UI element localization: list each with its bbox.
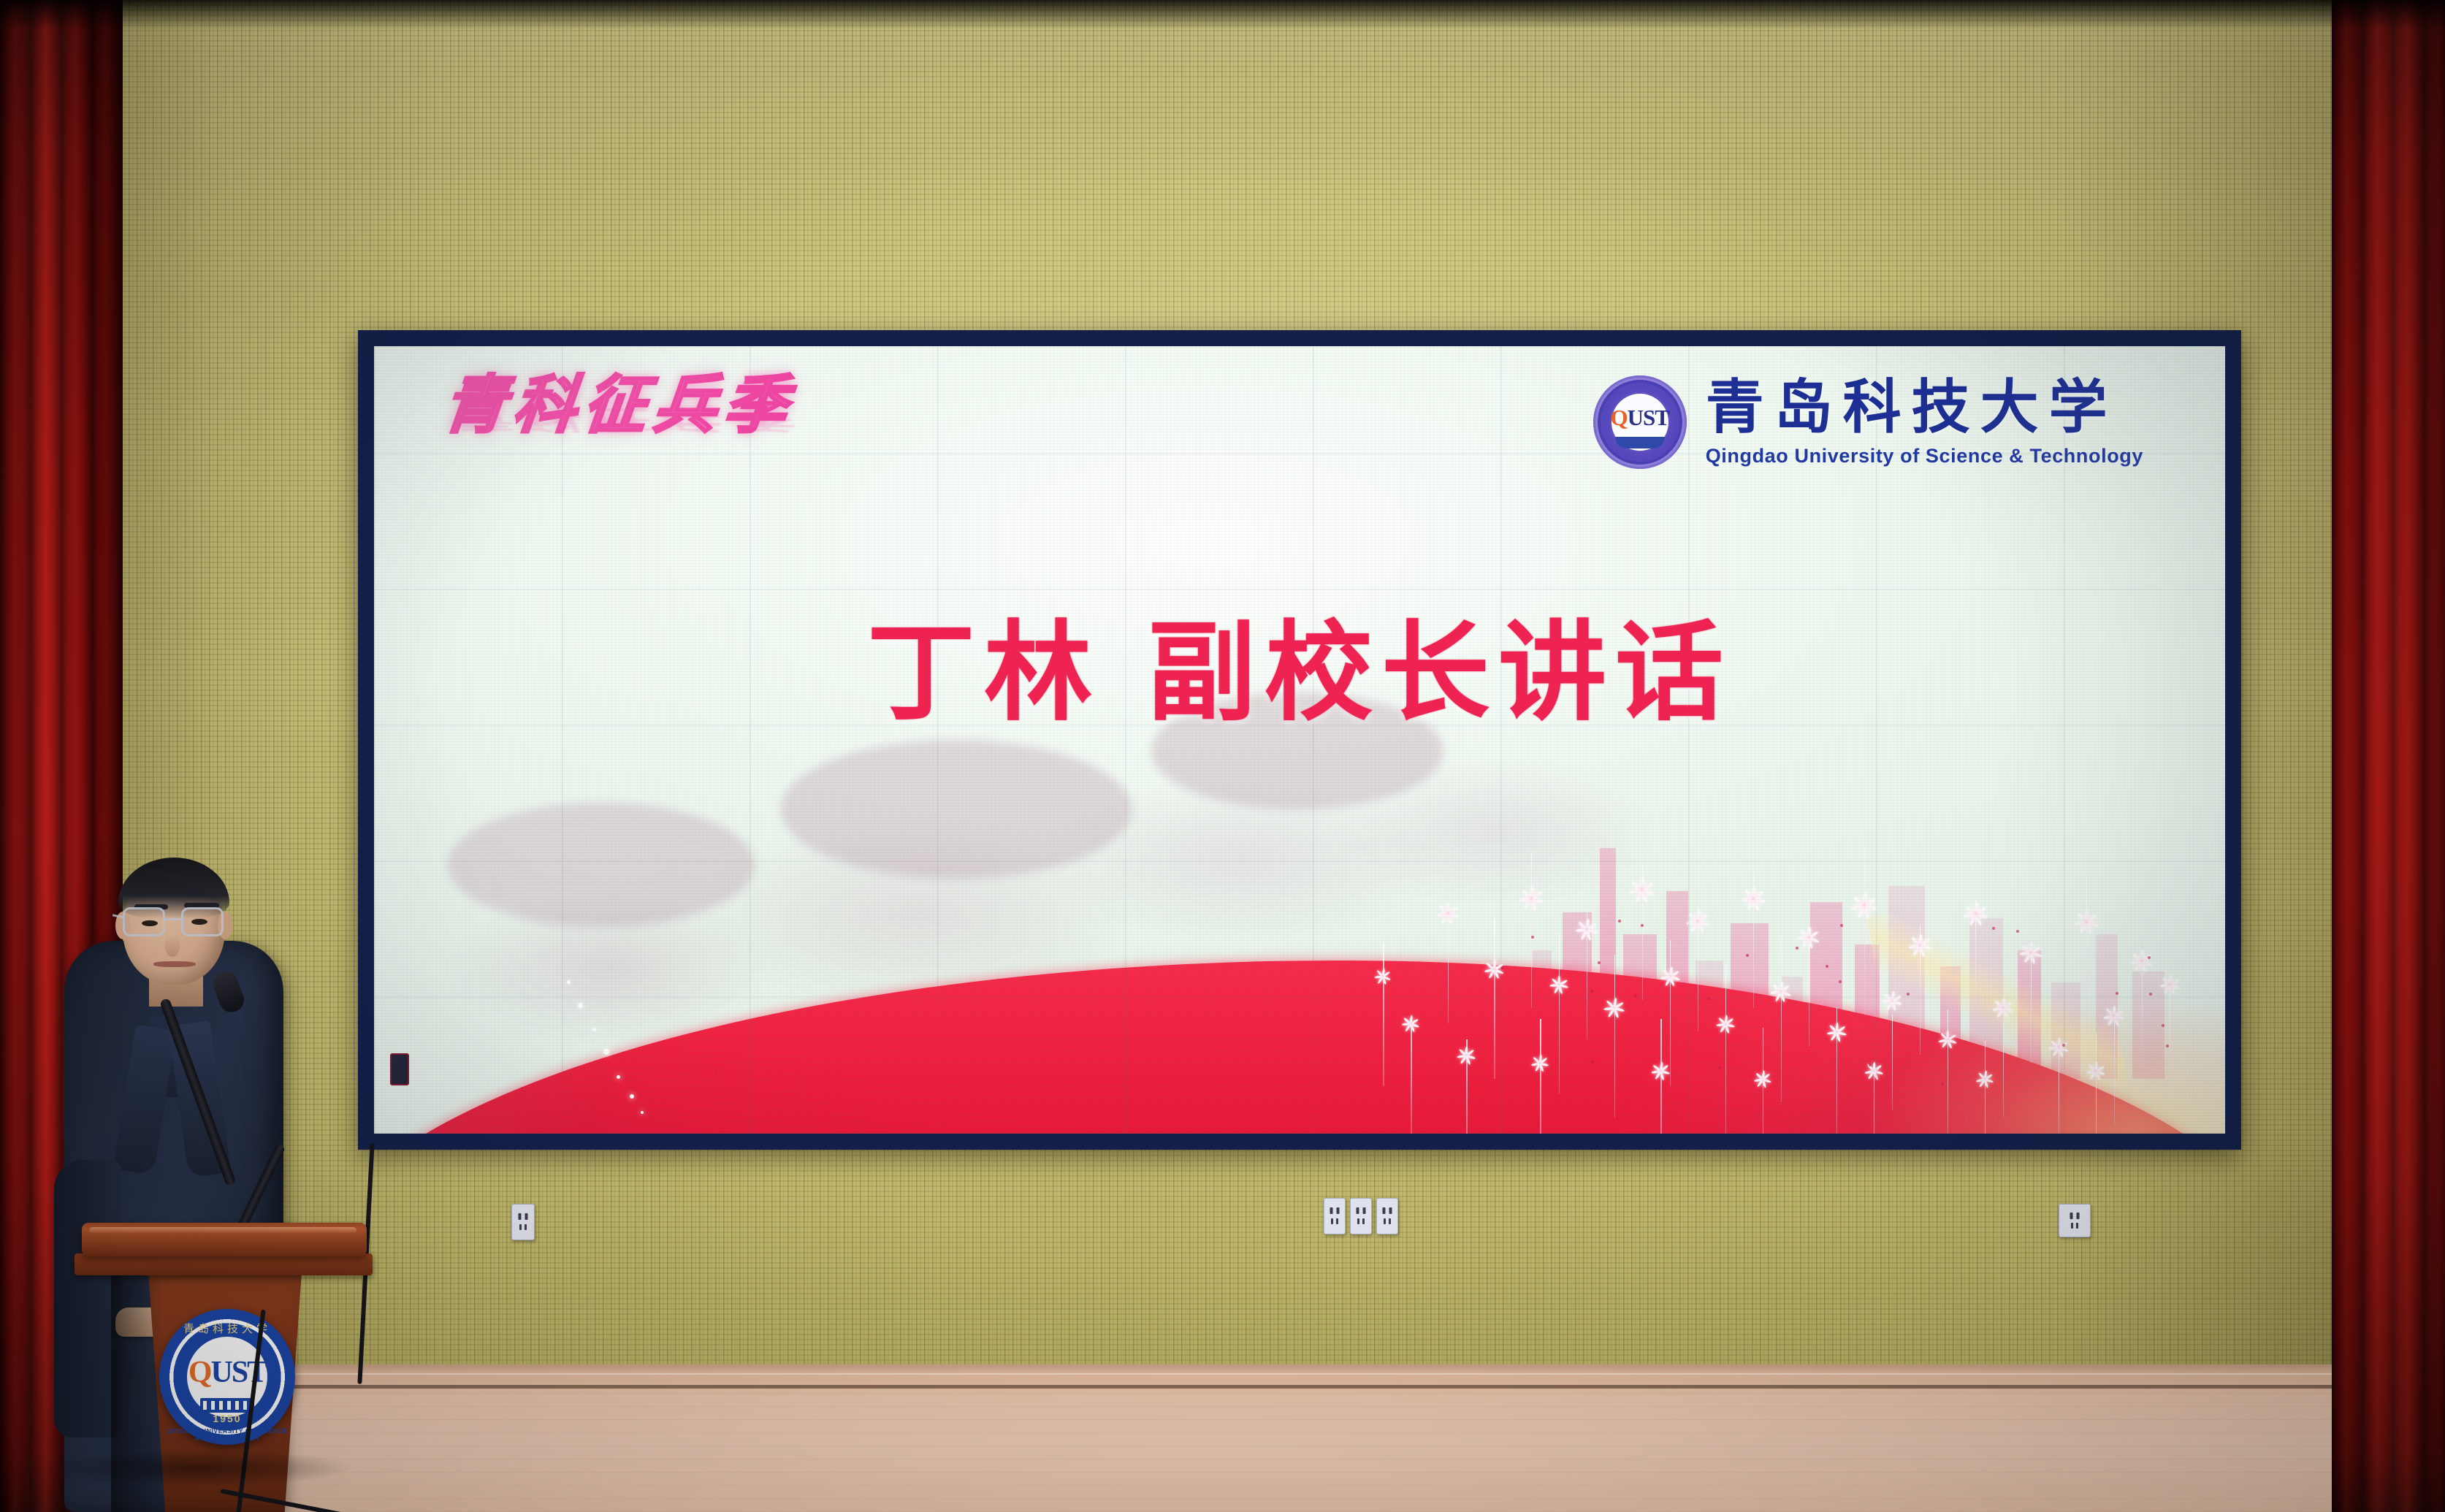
outlet-slots-lower — [2071, 1223, 2078, 1229]
outlet-slots — [1383, 1207, 1392, 1214]
outlet-slots-lower — [1331, 1218, 1338, 1224]
emblem-letter-q: Q — [188, 1356, 211, 1389]
outlet-slots — [2070, 1213, 2080, 1219]
power-outlet-right[interactable] — [2059, 1204, 2091, 1237]
emblem-bridge-icon — [200, 1398, 254, 1413]
seal-base-arc — [1615, 437, 1665, 448]
power-outlet-center-1[interactable] — [1324, 1198, 1346, 1234]
podium-qust-emblem: 青岛科技大学 QUST 1950 QINGDAO UNIVERSITY OF S… — [159, 1309, 295, 1445]
speaker-nose — [165, 935, 180, 957]
outlet-slots — [1330, 1207, 1340, 1214]
outlet-slots — [1357, 1207, 1366, 1214]
university-name-zh: 青岛科技大学 — [1706, 378, 2143, 436]
outlet-slots-lower — [1357, 1218, 1365, 1224]
slide-title-name: 丁林 — [867, 608, 1101, 736]
seal-letters-rest: UST — [1628, 405, 1669, 430]
speaker-mouth — [153, 961, 196, 967]
led-display-screen[interactable]: 青科征兵季 青科征兵季 QUST 青岛科技大学 Qingdao Universi… — [358, 330, 2241, 1150]
seal-letters: QUST — [1593, 405, 1687, 431]
power-outlet-left[interactable] — [511, 1204, 535, 1240]
university-name-en: Qingdao University of Science & Technolo… — [1706, 445, 2143, 467]
emblem-name-en: QINGDAO UNIVERSITY OF SCIENCE AND TECHNO… — [159, 1427, 295, 1442]
calligraphy-header: 青科征兵季 — [440, 374, 797, 437]
top-vignette — [0, 0, 2445, 29]
stage-curtain-right — [2332, 0, 2445, 1512]
glasses-bridge — [165, 918, 181, 920]
slide-title-role: 副校长讲话 — [1148, 608, 1732, 736]
emblem-founded-year: 1950 — [159, 1413, 295, 1424]
podium-desktop-highlight — [89, 1227, 356, 1234]
ir-sensor-icon — [390, 1053, 409, 1085]
speaker-eye-right — [191, 919, 207, 925]
power-outlet-center-2[interactable] — [1350, 1198, 1372, 1234]
university-name-block: 青岛科技大学 Qingdao University of Science & T… — [1706, 378, 2143, 467]
outlet-slots-lower — [1384, 1218, 1391, 1224]
screen-content-area: 青科征兵季 青科征兵季 QUST 青岛科技大学 Qingdao Universi… — [374, 346, 2225, 1134]
eyeglasses-icon — [118, 907, 231, 938]
emblem-letters: QUST — [159, 1357, 295, 1388]
outlet-slots-lower — [519, 1224, 527, 1230]
power-outlet-center-3[interactable] — [1376, 1198, 1398, 1234]
slide-main-title: 丁林副校长讲话 — [374, 618, 2225, 726]
podium-front-lip — [75, 1253, 373, 1275]
outlet-slots — [519, 1213, 528, 1220]
podium-ground-shadow — [44, 1450, 351, 1486]
university-logo-block: QUST 青岛科技大学 Qingdao University of Scienc… — [1593, 375, 2143, 469]
auditorium-stage: 青科征兵季 青科征兵季 QUST 青岛科技大学 Qingdao Universi… — [0, 0, 2445, 1512]
podium-and-speaker: 青岛科技大学 QUST 1950 QINGDAO UNIVERSITY OF S… — [73, 862, 380, 1512]
speaker-eye-left — [142, 920, 158, 926]
qust-seal-icon: QUST — [1593, 375, 1687, 469]
seal-letter-q: Q — [1610, 405, 1627, 430]
emblem-name-zh: 青岛科技大学 — [159, 1321, 295, 1336]
coat-lapel-left — [113, 1025, 177, 1175]
